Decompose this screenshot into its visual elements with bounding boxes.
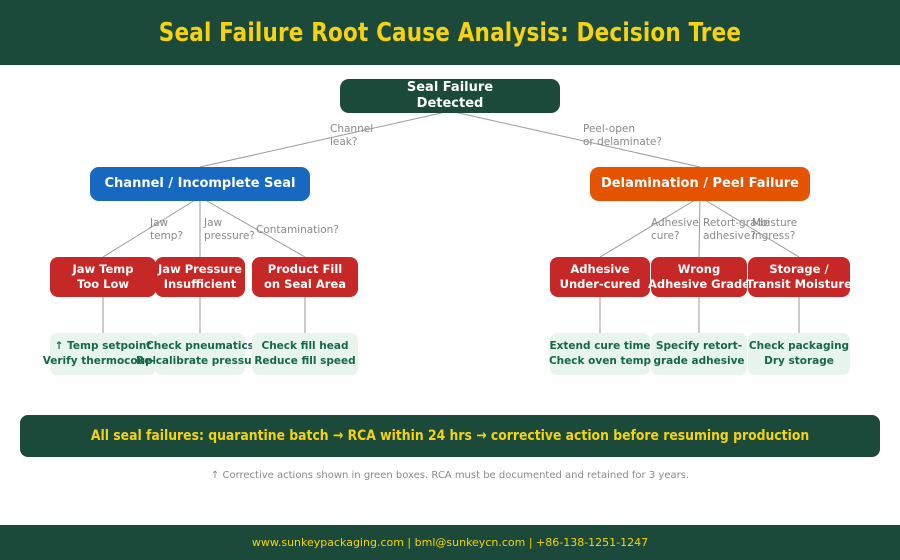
node-cause-product-fill[interactable]: Product Fill on Seal Area bbox=[252, 257, 358, 297]
node-root[interactable]: Seal Failure Detected bbox=[340, 79, 560, 113]
node-cause-product-fill-line2: on Seal Area bbox=[264, 277, 346, 292]
edge-label-channel-leak: Channel leak? bbox=[330, 123, 373, 149]
edge-label-jaw-temp-line1: Jaw bbox=[150, 217, 168, 229]
summary-banner: All seal failures: quarantine batch → RC… bbox=[20, 415, 880, 457]
edge-label-contamination: Contamination? bbox=[256, 224, 339, 237]
node-action-adhesive-cure[interactable]: Extend cure time Check oven temp bbox=[550, 333, 650, 375]
node-cause-jaw-pressure-line1: Jaw Pressure bbox=[158, 262, 242, 277]
node-cause-storage-line1: Storage / bbox=[769, 262, 828, 277]
edge-label-adhesive-cure-line2: cure? bbox=[651, 230, 680, 242]
node-action-wrong-grade[interactable]: Specify retort- grade adhesive bbox=[651, 333, 747, 375]
node-cause-storage-transit-moisture[interactable]: Storage / Transit Moisture bbox=[748, 257, 850, 297]
node-action-product-fill[interactable]: Check fill head Reduce fill speed bbox=[252, 333, 358, 375]
edge-label-jaw-pressure-line1: Jaw bbox=[204, 217, 222, 229]
edge-root-to-delamination bbox=[450, 111, 700, 167]
node-action-storage-line2: Dry storage bbox=[764, 354, 834, 369]
node-action-product-fill-line2: Reduce fill speed bbox=[254, 354, 355, 369]
edge-label-jaw-pressure-line2: pressure? bbox=[204, 230, 255, 242]
footnote: ↑ Corrective actions shown in green boxe… bbox=[0, 470, 900, 481]
node-root-line1: Seal Failure bbox=[407, 80, 493, 96]
node-cause-jaw-temp-line1: Jaw Temp bbox=[73, 262, 134, 277]
node-delamination-peel-failure[interactable]: Delamination / Peel Failure bbox=[590, 167, 810, 201]
edge-label-adhesive-cure: Adhesive cure? bbox=[651, 217, 699, 243]
summary-text: All seal failures: quarantine batch → RC… bbox=[91, 428, 809, 444]
node-action-storage-line1: Check packaging bbox=[749, 339, 849, 354]
node-cause-adhesive-line1: Adhesive bbox=[570, 262, 629, 277]
node-cause-adhesive-under-cured[interactable]: Adhesive Under-cured bbox=[550, 257, 650, 297]
edge-label-moisture-ingress-line2: ingress? bbox=[752, 230, 795, 242]
node-action-storage[interactable]: Check packaging Dry storage bbox=[748, 333, 850, 375]
edge-label-peel-open-line2: or delaminate? bbox=[583, 136, 662, 148]
edge-label-contamination-line1: Contamination? bbox=[256, 224, 339, 236]
node-cause-jaw-temp[interactable]: Jaw Temp Too Low bbox=[50, 257, 156, 297]
footer-bar: www.sunkeypackaging.com | bml@sunkeycn.c… bbox=[0, 525, 900, 560]
edge-root-to-channel bbox=[200, 111, 450, 167]
edge-label-peel-open: Peel-open or delaminate? bbox=[583, 123, 662, 149]
edge-label-peel-open-line1: Peel-open bbox=[583, 123, 635, 135]
node-cause-product-fill-line1: Product Fill bbox=[268, 262, 342, 277]
node-cause-wrong-grade-line2: Adhesive Grade bbox=[648, 277, 750, 292]
node-cause-storage-line2: Transit Moisture bbox=[746, 277, 852, 292]
edge-label-adhesive-cure-line1: Adhesive bbox=[651, 217, 699, 229]
node-delamination-label: Delamination / Peel Failure bbox=[601, 176, 799, 192]
node-action-adhesive-line2: Check oven temp bbox=[549, 354, 651, 369]
edge-label-jaw-pressure: Jaw pressure? bbox=[204, 217, 255, 243]
node-action-wrong-grade-line1: Specify retort- bbox=[656, 339, 742, 354]
edge-label-channel-leak-line2: leak? bbox=[330, 136, 357, 148]
edge-label-jaw-temp: Jaw temp? bbox=[150, 217, 183, 243]
node-action-adhesive-line1: Extend cure time bbox=[549, 339, 650, 354]
node-action-jaw-pressure-line2: Re-calibrate pressure bbox=[136, 354, 264, 369]
edge-label-moisture-ingress: Moisture ingress? bbox=[752, 217, 797, 243]
node-action-jaw-pressure[interactable]: Check pneumatics Re-calibrate pressure bbox=[155, 333, 245, 375]
diagram-page: Seal Failure Root Cause Analysis: Decisi… bbox=[0, 0, 900, 560]
edge-delamination-to-wrong-grade bbox=[699, 197, 700, 257]
node-root-line2: Detected bbox=[417, 96, 484, 112]
footer-contact-text: www.sunkeypackaging.com | bml@sunkeycn.c… bbox=[252, 536, 648, 549]
node-action-wrong-grade-line2: grade adhesive bbox=[653, 354, 744, 369]
header-bar: Seal Failure Root Cause Analysis: Decisi… bbox=[0, 0, 900, 65]
node-action-jaw-pressure-line1: Check pneumatics bbox=[146, 339, 254, 354]
node-channel-incomplete-seal[interactable]: Channel / Incomplete Seal bbox=[90, 167, 310, 201]
edge-label-jaw-temp-line2: temp? bbox=[150, 230, 183, 242]
node-action-product-fill-line1: Check fill head bbox=[262, 339, 349, 354]
edge-label-channel-leak-line1: Channel bbox=[330, 123, 373, 135]
node-channel-label: Channel / Incomplete Seal bbox=[105, 176, 296, 192]
node-cause-jaw-temp-line2: Too Low bbox=[77, 277, 129, 292]
node-cause-adhesive-line2: Under-cured bbox=[560, 277, 641, 292]
node-cause-wrong-grade-line1: Wrong bbox=[678, 262, 720, 277]
edge-label-retort-grade-line2: adhesive? bbox=[703, 230, 756, 242]
node-action-jaw-temp-line1: ↑ Temp setpoint bbox=[55, 339, 152, 354]
node-cause-jaw-pressure-line2: Insufficient bbox=[164, 277, 237, 292]
node-cause-jaw-pressure[interactable]: Jaw Pressure Insufficient bbox=[155, 257, 245, 297]
edge-label-moisture-ingress-line1: Moisture bbox=[752, 217, 797, 229]
page-title: Seal Failure Root Cause Analysis: Decisi… bbox=[36, 0, 864, 65]
node-cause-wrong-adhesive-grade[interactable]: Wrong Adhesive Grade bbox=[651, 257, 747, 297]
